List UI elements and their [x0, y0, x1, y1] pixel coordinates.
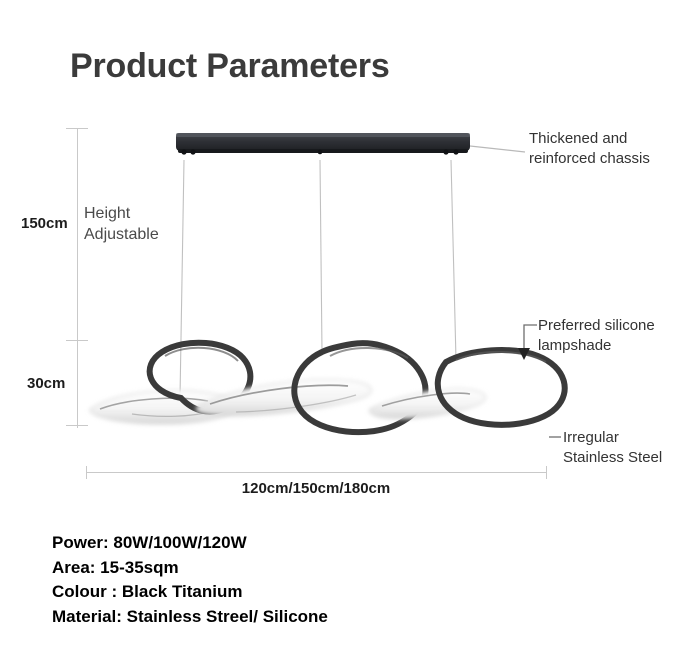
horizontal-cap-left [86, 466, 87, 479]
height-adjustable-line1: Height [84, 203, 159, 224]
dimension-label-height-top: 150cm [21, 215, 68, 232]
product-parameters-page: Product Parameters 150cm 30cm Height Adj… [0, 0, 695, 657]
horizontal-cap-right [546, 466, 547, 479]
spec-colour: Colour : Black Titanium [52, 580, 328, 605]
lamp-ring-1 [90, 390, 236, 424]
callout-steel-line1: Irregular [563, 428, 662, 448]
page-title: Product Parameters [70, 47, 390, 86]
callout-chassis: Thickened and reinforced chassis [529, 129, 650, 169]
callout-steel-line2: Stainless Steel [563, 448, 662, 468]
callout-silicone-lampshade: Preferred silicone lampshade [538, 316, 655, 356]
height-adjustable-line2: Adjustable [84, 224, 159, 245]
vertical-dimension-line [77, 128, 78, 428]
callout-silicone-line2: lampshade [538, 336, 655, 356]
spec-area: Area: 15-35sqm [52, 556, 328, 581]
callout-stainless-steel: Irregular Stainless Steel [563, 428, 662, 468]
spec-material: Material: Stainless Streel/ Silicone [52, 605, 328, 630]
vertical-tick-middle [66, 340, 88, 341]
lamp-ring-4 [294, 343, 425, 432]
lamp-ring-6 [438, 350, 565, 425]
horizontal-dimension-line [86, 472, 546, 473]
spec-power: Power: 80W/100W/120W [52, 531, 328, 556]
lamp-ring-3 [196, 380, 371, 416]
dimension-label-width: 120cm/150cm/180cm [86, 480, 546, 497]
chassis-leader-line [470, 146, 525, 152]
lamp-ring-5 [369, 389, 485, 419]
suspension-cables [180, 160, 456, 398]
callout-chassis-line2: reinforced chassis [529, 149, 650, 169]
callout-chassis-line1: Thickened and [529, 129, 650, 149]
vertical-tick-top [66, 128, 88, 129]
vertical-tick-bottom [66, 425, 88, 426]
specification-list: Power: 80W/100W/120W Area: 15-35sqm Colo… [52, 531, 328, 629]
height-adjustable-note: Height Adjustable [84, 203, 159, 245]
silicone-leader-arrow [518, 325, 537, 360]
dimension-label-height-bottom: 30cm [27, 375, 65, 392]
chassis-bar [176, 133, 470, 155]
callout-silicone-line1: Preferred silicone [538, 316, 655, 336]
lamp-ring-2 [150, 343, 251, 412]
